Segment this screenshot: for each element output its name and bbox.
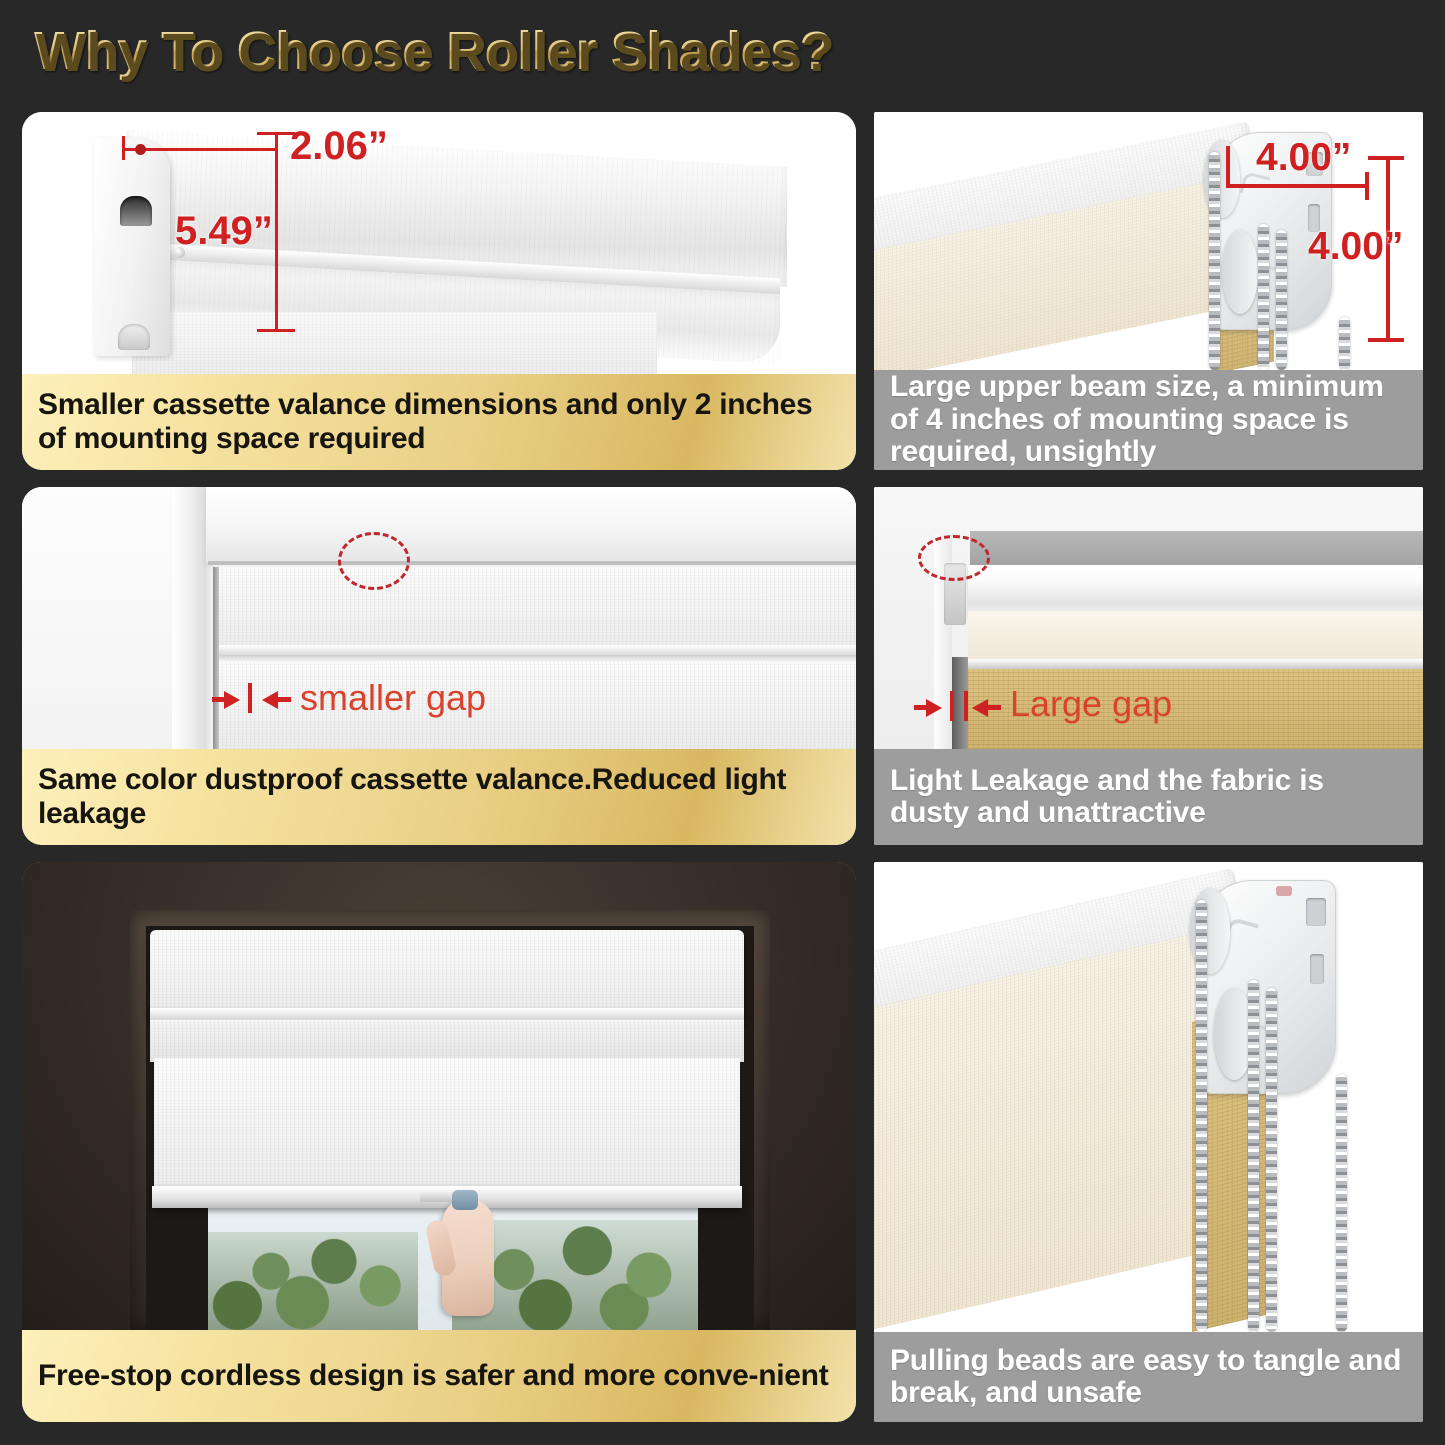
panel-pro-cassette-dimensions: 2.06” 5.49” Smaller cassette valance dim…	[22, 112, 856, 470]
dimension-label-width: 2.06”	[290, 124, 388, 169]
caption-bar-pro-cordless: Free-stop cordless design is safer and m…	[22, 1330, 856, 1422]
dim-width-dot	[135, 144, 146, 155]
image-dustproof-valance: smaller gap	[22, 487, 856, 749]
panel-con-upper-beam-size: 4.00” 4.00” Large upper beam size, a min…	[874, 112, 1423, 470]
shade-fabric	[154, 1058, 740, 1194]
image-room-window-scene	[22, 862, 856, 1330]
caption-bar-pro-cassette: Smaller cassette valance dimensions and …	[22, 374, 856, 470]
fabric-bottom-rail	[968, 659, 1423, 669]
gap-arrow-left-tail	[212, 697, 226, 702]
panel-pro-dustproof-valance: smaller gap Same color dustproof cassett…	[22, 487, 856, 845]
image-large-upper-beam: 4.00” 4.00”	[874, 112, 1423, 370]
gap-measure-bar-right	[964, 691, 968, 721]
dim-height-tick-bottom	[257, 329, 295, 332]
casing-reveal-line	[208, 561, 856, 565]
roller-tube	[968, 565, 1423, 617]
bead-chain-1	[1209, 152, 1220, 370]
bead-chain-2	[1248, 980, 1259, 1332]
callout-circle-icon	[918, 535, 990, 581]
caption-text: Same color dustproof cassette valance.Re…	[22, 763, 856, 831]
valance-lower-skirt	[150, 1020, 744, 1062]
caption-text: Light Leakage and the fabric is dusty an…	[874, 765, 1423, 830]
gap-sliver	[213, 567, 219, 749]
bead-chain-1	[1196, 900, 1207, 1332]
end-cap-lower-fitting	[118, 324, 150, 350]
gap-arrow-right-tail	[277, 697, 291, 702]
caption-text: Large upper beam size, a minimum of 4 in…	[874, 371, 1423, 468]
bead-chain-3	[1266, 988, 1277, 1332]
bead-chain-4	[1336, 1074, 1347, 1332]
tree-foliage-left	[208, 1232, 418, 1330]
dim-height-tick-top	[257, 132, 295, 135]
gap-arrow-right	[972, 699, 988, 717]
gap-arrow-left	[926, 699, 942, 717]
panel-pro-cordless-design: Free-stop cordless design is safer and m…	[22, 862, 856, 1422]
gap-label-large: Large gap	[1010, 683, 1172, 725]
caption-bar-con-light-leakage: Light Leakage and the fabric is dusty an…	[874, 749, 1423, 845]
caption-bar-con-upper-beam: Large upper beam size, a minimum of 4 in…	[874, 370, 1423, 470]
clutch-wheel-lower	[1222, 230, 1258, 314]
bead-chain-3	[1276, 230, 1287, 370]
dimension-label-width: 4.00”	[1256, 136, 1351, 180]
image-pulling-beads	[874, 862, 1423, 1332]
dimension-label-height: 5.49”	[175, 209, 273, 254]
bead-chain-4	[1339, 317, 1350, 370]
image-light-leakage: Large gap	[874, 487, 1423, 749]
caption-text: Free-stop cordless design is safer and m…	[22, 1359, 856, 1393]
gap-measure-bar	[248, 683, 252, 713]
page-title: Why To Choose Roller Shades?	[34, 20, 832, 82]
cassette-bottom-edge	[218, 645, 856, 655]
window-casing-top	[206, 487, 856, 563]
dim-width-line	[1226, 184, 1369, 188]
dimension-label-height: 4.00”	[1308, 225, 1403, 269]
bracket-slot-lower	[1310, 954, 1324, 984]
end-cap-slot	[120, 196, 152, 226]
dim-width-tick-right	[1365, 172, 1369, 200]
panel-con-light-leakage: Large gap Light Leakage and the fabric i…	[874, 487, 1423, 845]
gap-arrow-right	[262, 691, 278, 709]
dim-width-tick-left	[122, 136, 125, 160]
shade-fabric	[132, 312, 657, 374]
dim-height-tick-bottom	[1368, 338, 1404, 342]
gap-measure-bar-left	[950, 691, 954, 721]
fabric-cream-band	[968, 611, 1423, 663]
cassette-valance	[150, 930, 744, 1016]
caption-bar-pro-dustproof: Same color dustproof cassette valance.Re…	[22, 749, 856, 845]
gap-label-smaller: smaller gap	[300, 677, 486, 719]
callout-circle-icon	[338, 532, 410, 590]
caption-bar-con-pulling-beads: Pulling beads are easy to tangle and bre…	[874, 1332, 1423, 1422]
caption-text: Pulling beads are easy to tangle and bre…	[874, 1345, 1423, 1410]
caption-text: Smaller cassette valance dimensions and …	[22, 388, 856, 456]
window-casing-left	[172, 487, 206, 749]
bead-chain-2	[1258, 224, 1269, 370]
dim-height-vline	[275, 132, 278, 332]
bracket-pin	[1276, 886, 1292, 896]
dim-height-tick-top	[1368, 156, 1404, 160]
bracket-slot-upper	[1306, 898, 1326, 926]
infographic-root: Why To Choose Roller Shades? 2.06”	[0, 0, 1445, 1445]
hand-fingertip	[452, 1190, 478, 1210]
image-cassette-valance: 2.06” 5.49”	[22, 112, 856, 374]
panel-con-pulling-beads: Pulling beads are easy to tangle and bre…	[874, 862, 1423, 1422]
gap-arrow-left-tail	[914, 705, 928, 710]
gap-arrow-right-tail	[987, 705, 1001, 710]
dim-width-tick-left	[1226, 146, 1230, 188]
gap-arrow-left	[224, 691, 240, 709]
cassette-valance	[218, 567, 856, 651]
